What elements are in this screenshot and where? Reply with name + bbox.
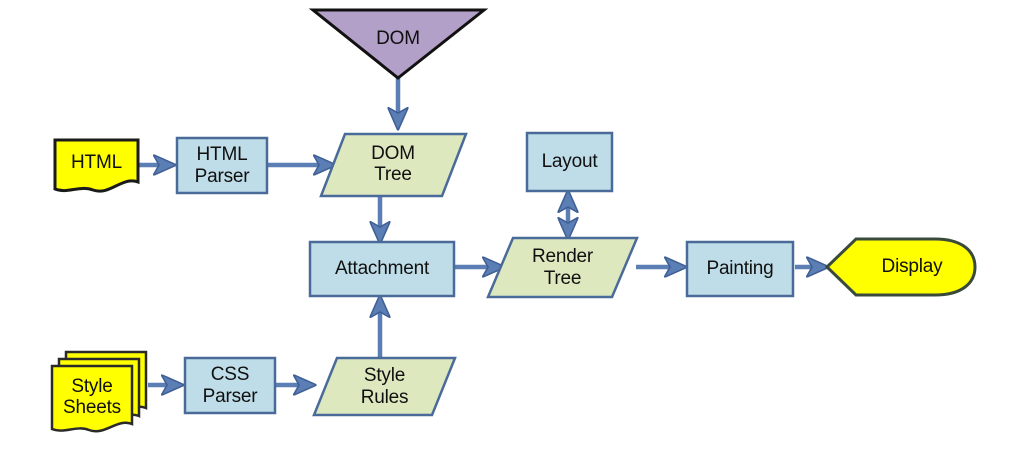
style-sheets-page-front — [52, 366, 132, 431]
node-dom[interactable] — [313, 10, 484, 78]
node-html-parser[interactable] — [177, 138, 267, 193]
flowchart-canvas: DOM HTML HTML Parser DOM Tree Layout Att… — [0, 0, 1020, 476]
edge-group — [137, 78, 826, 385]
flowchart-shapes-layer — [0, 0, 1020, 476]
node-style-rules[interactable] — [314, 358, 455, 415]
node-css-parser[interactable] — [185, 358, 275, 413]
node-painting[interactable] — [687, 242, 793, 296]
node-render-tree[interactable] — [488, 238, 637, 297]
node-attachment[interactable] — [310, 242, 454, 296]
node-display[interactable] — [827, 239, 975, 295]
node-dom-tree[interactable] — [321, 134, 466, 196]
node-style-sheets[interactable] — [52, 352, 146, 431]
node-html[interactable] — [55, 140, 138, 191]
node-layout[interactable] — [527, 133, 612, 191]
